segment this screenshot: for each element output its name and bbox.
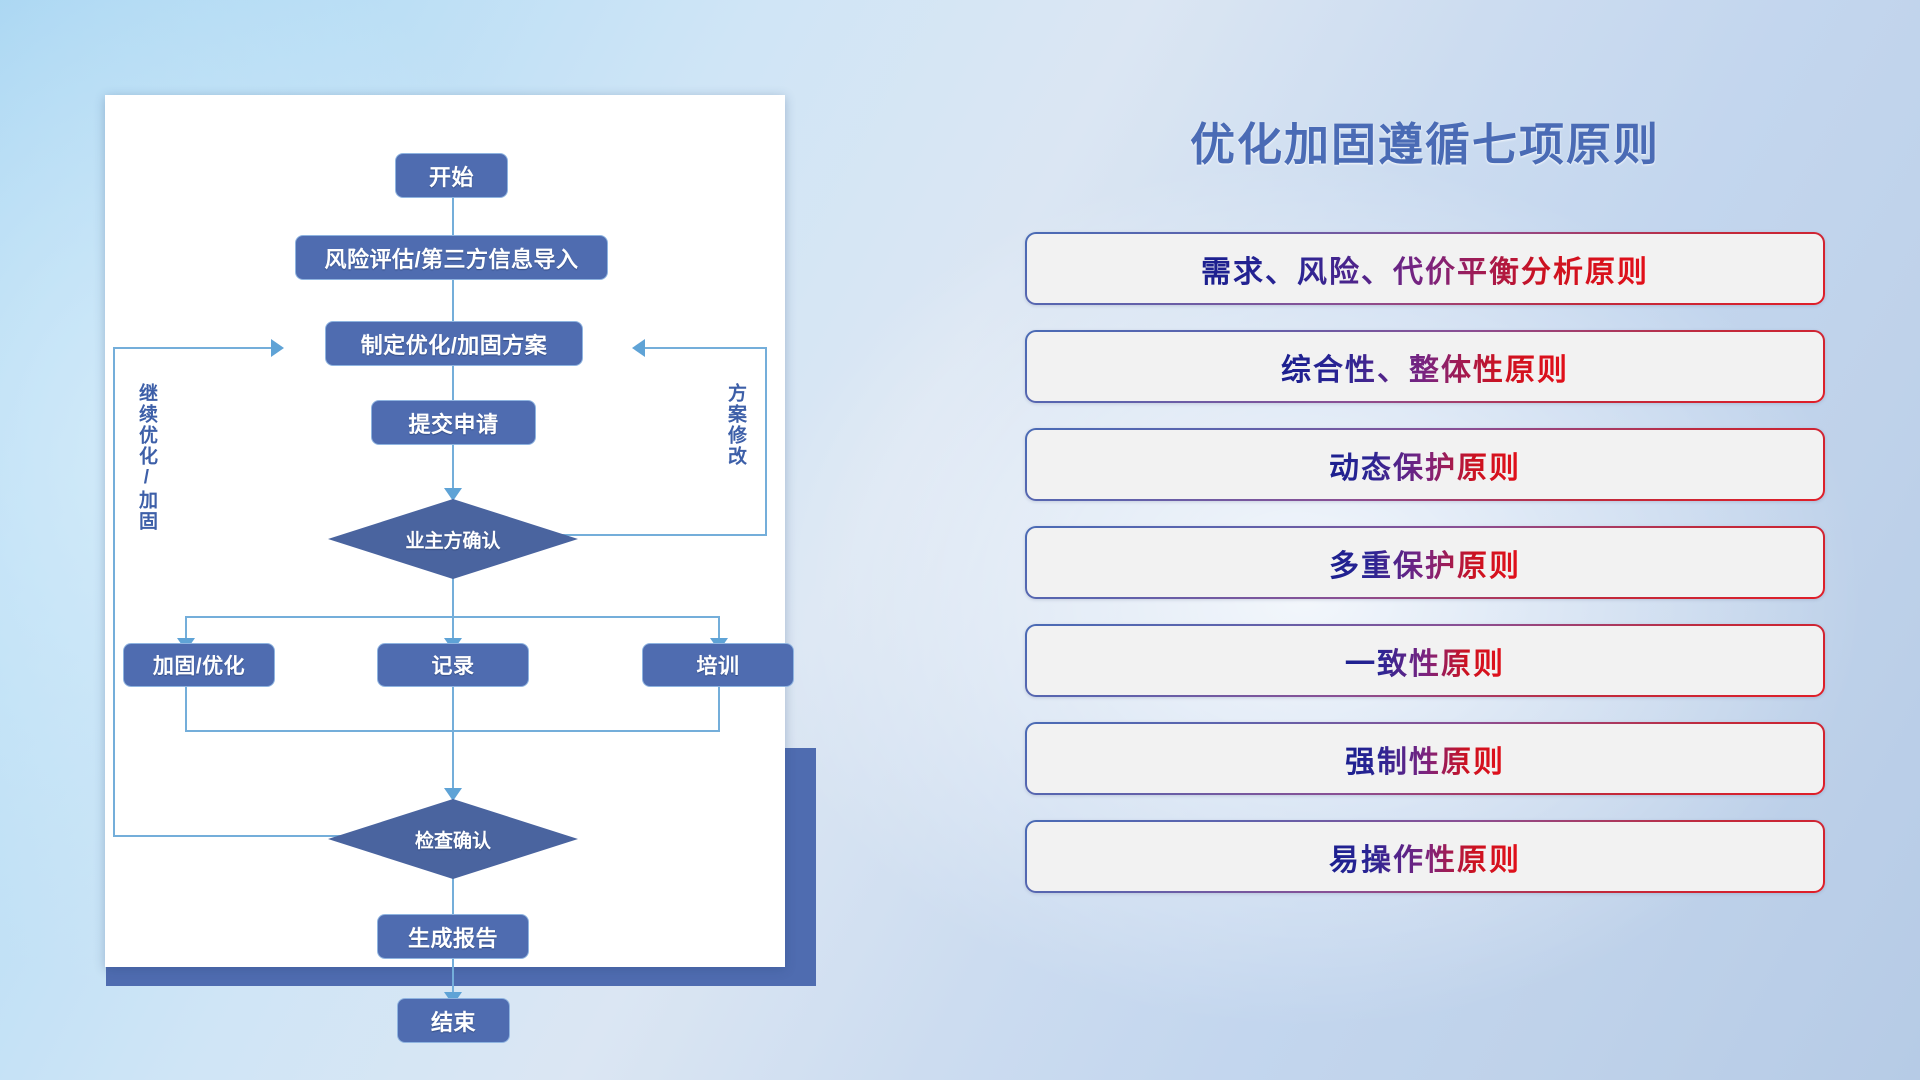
connector-train-down [718, 687, 720, 732]
principle-card-2-label: 综合性、整体性原则 [1281, 345, 1569, 389]
connector-record-down [452, 687, 454, 732]
principle-card-6-label: 强制性原则 [1345, 737, 1505, 781]
flow-node-training-label: 培训 [697, 650, 740, 680]
flow-node-owner-confirm-label: 业主方确认 [405, 526, 500, 553]
connector-checkloop-to-plan [113, 347, 273, 349]
principle-card-4-inner: 多重保护原则 [1027, 528, 1823, 597]
connector-owner-down [452, 573, 454, 618]
principle-card-5-label: 一致性原则 [1345, 639, 1505, 683]
flow-node-record[interactable]: 记录 [377, 643, 529, 687]
flow-node-risk-assessment[interactable]: 风险评估/第三方信息导入 [295, 235, 608, 280]
flow-node-check-confirm-label: 检查确认 [415, 826, 491, 853]
flow-node-plan[interactable]: 制定优化/加固方案 [325, 321, 583, 366]
connector-ownerloop-to-plan [645, 347, 767, 349]
principle-card-4[interactable]: 多重保护原则 [1025, 526, 1825, 599]
principle-card-1-inner: 需求、风险、代价平衡分析原则 [1027, 234, 1823, 303]
principle-card-7-label: 易操作性原则 [1329, 835, 1521, 879]
principle-card-5-inner: 一致性原则 [1027, 626, 1823, 695]
principle-card-7[interactable]: 易操作性原则 [1025, 820, 1825, 893]
flow-node-start[interactable]: 开始 [395, 153, 508, 198]
connector-checkloop-up [113, 347, 115, 837]
principle-card-7-inner: 易操作性原则 [1027, 822, 1823, 891]
principle-card-4-label: 多重保护原则 [1329, 541, 1521, 585]
flow-node-report[interactable]: 生成报告 [377, 914, 529, 959]
flow-node-reinforce-label: 加固/优化 [153, 650, 245, 680]
principle-card-5[interactable]: 一致性原则 [1025, 624, 1825, 697]
principle-card-1-label: 需求、风险、代价平衡分析原则 [1201, 247, 1649, 291]
principle-card-6-inner: 强制性原则 [1027, 724, 1823, 793]
principles-panel: 优化加固遵循七项原则 需求、风险、代价平衡分析原则 综合性、整体性原则 动态保护… [1010, 0, 1840, 1080]
flow-node-end-label: 结束 [431, 1005, 476, 1037]
flow-node-risk-assessment-label: 风险评估/第三方信息导入 [324, 242, 578, 274]
principle-card-2[interactable]: 综合性、整体性原则 [1025, 330, 1825, 403]
principle-card-3-label: 动态保护原则 [1329, 443, 1521, 487]
arrow-checkloop-to-plan [271, 339, 284, 357]
principle-card-1[interactable]: 需求、风险、代价平衡分析原则 [1025, 232, 1825, 305]
principle-card-3-inner: 动态保护原则 [1027, 430, 1823, 499]
flow-node-submit-label: 提交申请 [408, 407, 498, 439]
principles-title: 优化加固遵循七项原则 [1010, 108, 1840, 173]
arrow-ownerloop-to-plan [632, 339, 645, 357]
connector-submit-to-owner [452, 444, 454, 494]
flow-node-submit[interactable]: 提交申请 [371, 400, 536, 445]
connector-merge-to-check [452, 730, 454, 795]
flow-node-check-confirm[interactable]: 检查确认 [328, 799, 578, 879]
flow-node-owner-confirm[interactable]: 业主方确认 [328, 499, 578, 579]
principle-card-6[interactable]: 强制性原则 [1025, 722, 1825, 795]
principles-card-list: 需求、风险、代价平衡分析原则 综合性、整体性原则 动态保护原则 多重保护原则 一… [1025, 232, 1825, 918]
connector-ownerloop-up [765, 347, 767, 536]
connector-checkloop-left [113, 835, 353, 837]
edge-label-continue-optimize: 继续优化/加固 [136, 383, 156, 532]
flow-node-report-label: 生成报告 [408, 921, 498, 953]
flow-node-start-label: 开始 [429, 160, 474, 192]
edge-label-plan-revision: 方案修改 [725, 383, 745, 467]
flow-node-training[interactable]: 培训 [642, 643, 794, 687]
flowchart-panel: 开始 风险评估/第三方信息导入 制定优化/加固方案 提交申请 业主方确认 加固/… [105, 95, 785, 967]
connector-ownerloop-right [545, 534, 767, 536]
connector-reinforce-down [185, 687, 187, 732]
flow-node-plan-label: 制定优化/加固方案 [361, 328, 548, 360]
flow-node-reinforce[interactable]: 加固/优化 [123, 643, 275, 687]
flow-node-end[interactable]: 结束 [397, 998, 510, 1043]
flow-node-record-label: 记录 [432, 650, 475, 680]
principle-card-2-inner: 综合性、整体性原则 [1027, 332, 1823, 401]
principle-card-3[interactable]: 动态保护原则 [1025, 428, 1825, 501]
